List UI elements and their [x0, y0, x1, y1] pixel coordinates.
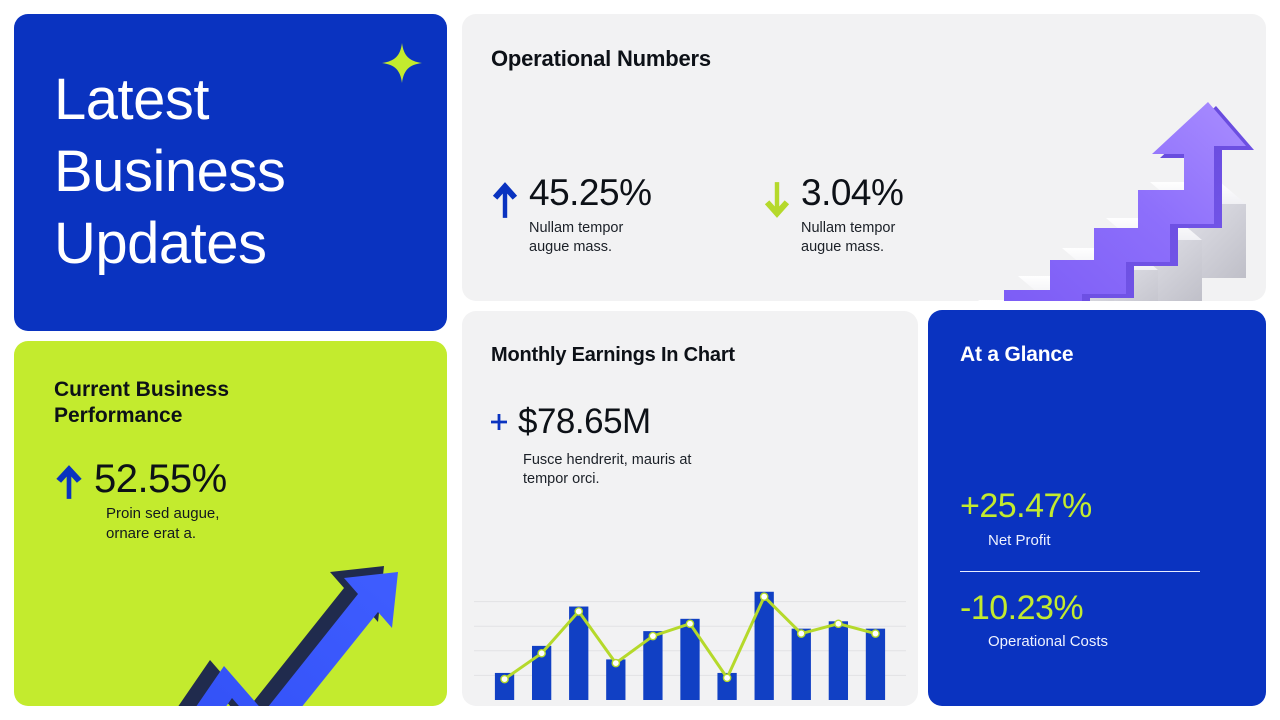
- chart-bars: [495, 592, 885, 700]
- page-title: Latest Business Updates: [54, 64, 285, 280]
- metric-subtitle: Nullam tempor augue mass.: [801, 219, 903, 258]
- chart-bar: [829, 621, 848, 700]
- earnings-kpi: $78.65M: [489, 404, 651, 439]
- earnings-bar-line-chart: [474, 573, 906, 706]
- glance-row: +25.47% Net Profit: [960, 488, 1210, 549]
- arrow-down-icon: [763, 180, 791, 220]
- chart-data-point: [798, 630, 805, 637]
- chart-data-point: [575, 608, 582, 615]
- earnings-value: $78.65M: [518, 404, 651, 439]
- glance-row: -10.23% Operational Costs: [960, 590, 1210, 651]
- earnings-subtitle: Fusce hendrerit, mauris at tempor orci.: [523, 451, 773, 490]
- plus-icon: [489, 411, 509, 433]
- staircase-growth-arrow-3d: [954, 32, 1266, 301]
- chart-data-point: [835, 620, 842, 627]
- monthly-earnings-title: Monthly Earnings In Chart: [491, 344, 735, 367]
- chart-bar: [866, 629, 885, 700]
- glance-rows: +25.47% Net Profit -10.23% Operational C…: [960, 488, 1210, 650]
- latest-updates-card: Latest Business Updates: [14, 14, 447, 331]
- operational-numbers-title: Operational Numbers: [491, 46, 711, 72]
- divider: [960, 571, 1200, 572]
- glance-label: Net Profit: [988, 532, 1210, 549]
- performance-stat: 52.55%: [54, 459, 227, 501]
- operational-metrics: 45.25% Nullam tempor augue mass. 3.04% N…: [491, 174, 983, 257]
- chart-bar: [792, 629, 811, 700]
- metric-item: 45.25% Nullam tempor augue mass.: [491, 174, 711, 257]
- chart-data-point: [872, 630, 879, 637]
- performance-title: Current Business Performance: [54, 377, 354, 428]
- chart-data-point: [761, 593, 768, 600]
- chart-data-point: [649, 632, 656, 639]
- operational-numbers-card: Operational Numbers 45.25% Nullam tempor…: [462, 14, 1266, 301]
- chart-data-point: [501, 675, 508, 682]
- at-a-glance-card: At a Glance +25.47% Net Profit -10.23% O…: [928, 310, 1266, 706]
- chart-data-point: [723, 674, 730, 681]
- current-business-performance-card: Current Business Performance 52.55% Proi…: [14, 341, 447, 706]
- sparkle-icon: [381, 42, 423, 84]
- arrow-up-icon: [491, 180, 519, 220]
- monthly-earnings-card: Monthly Earnings In Chart $78.65M Fusce …: [462, 311, 918, 706]
- glance-value: +25.47%: [960, 488, 1210, 525]
- metric-item: 3.04% Nullam tempor augue mass.: [763, 174, 983, 257]
- at-a-glance-title: At a Glance: [960, 343, 1073, 367]
- upward-trend-arrow-3d: [132, 510, 447, 706]
- arrow-up-icon: [54, 463, 84, 501]
- glance-value: -10.23%: [960, 590, 1210, 627]
- performance-value: 52.55%: [94, 459, 227, 499]
- metric-value: 45.25%: [529, 174, 652, 213]
- glance-label: Operational Costs: [988, 633, 1210, 650]
- chart-data-point: [686, 620, 693, 627]
- chart-data-point: [612, 660, 619, 667]
- metric-value: 3.04%: [801, 174, 903, 213]
- dashboard-stage: Latest Business Updates Current Business…: [0, 0, 1280, 720]
- metric-subtitle: Nullam tempor augue mass.: [529, 219, 652, 258]
- chart-data-point: [538, 650, 545, 657]
